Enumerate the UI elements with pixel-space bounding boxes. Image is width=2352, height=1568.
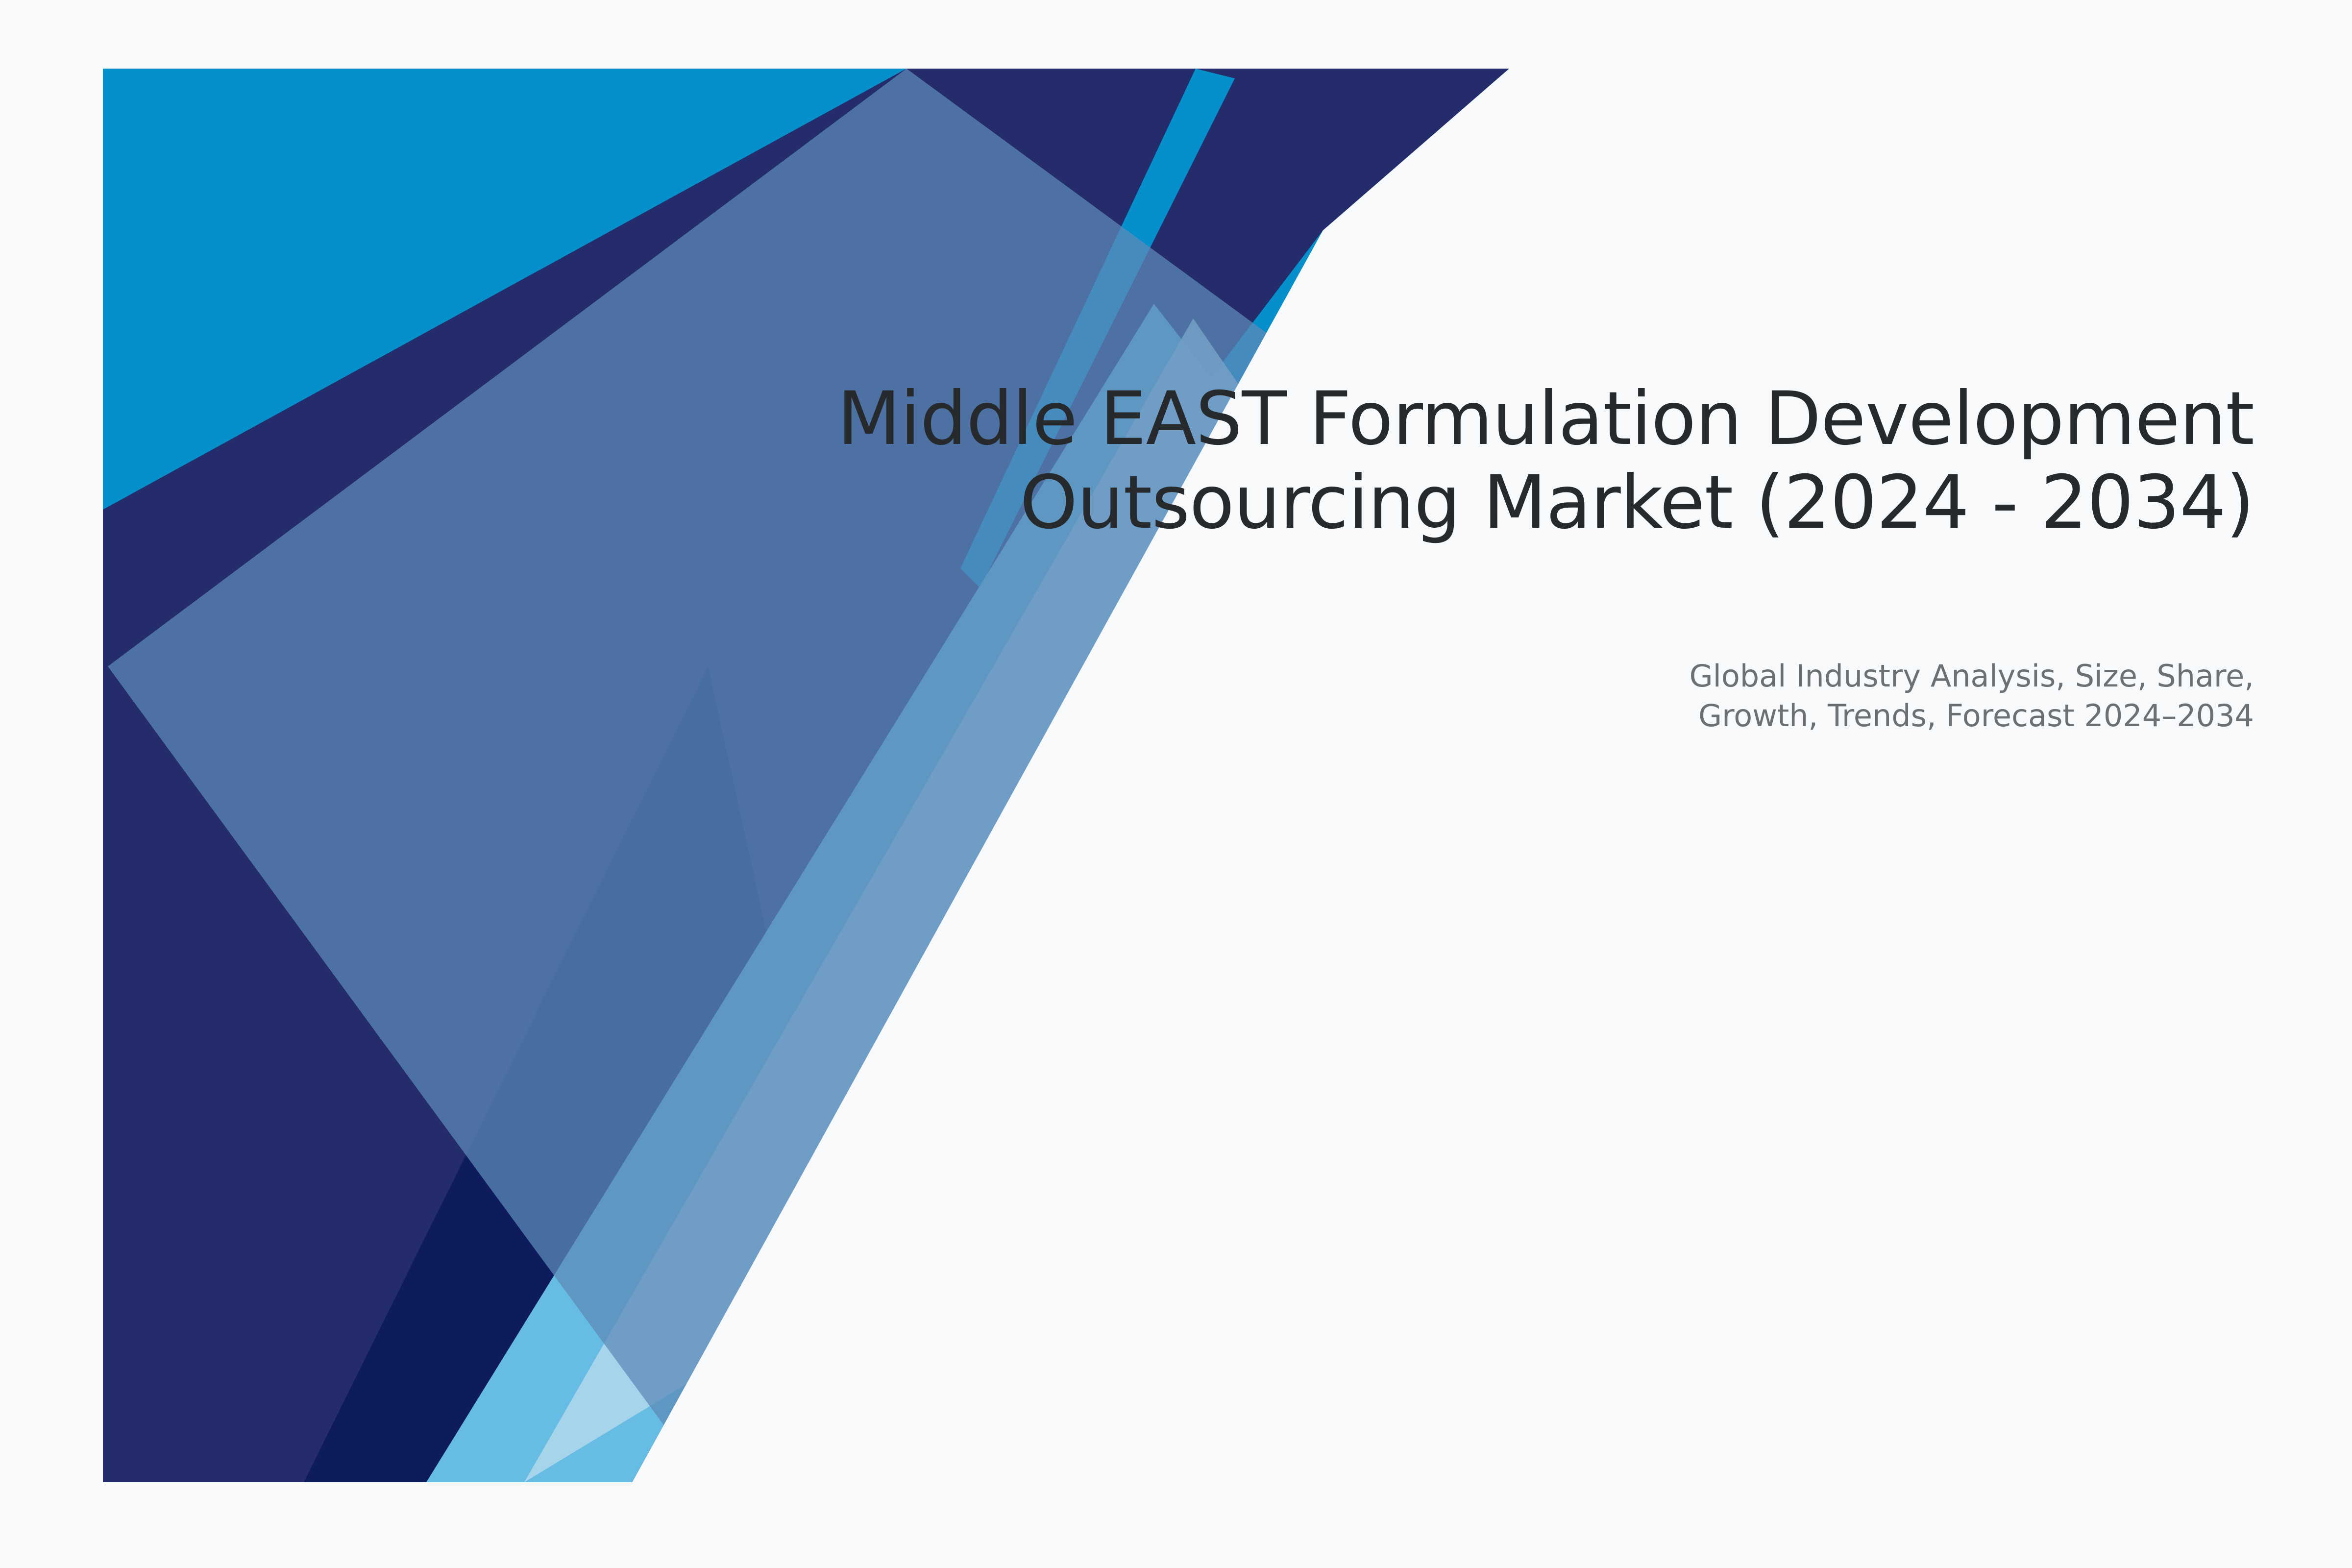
cover-text-layer: Middle EAST Formulation Development Outs…	[0, 0, 2352, 1568]
subtitle-block: Global Industry Analysis, Size, Share, G…	[1421, 657, 2254, 735]
title-block: Middle EAST Formulation Development Outs…	[710, 377, 2254, 545]
cover-page: Middle EAST Formulation Development Outs…	[0, 0, 2352, 1568]
page-title: Middle EAST Formulation Development Outs…	[710, 377, 2254, 545]
page-subtitle: Global Industry Analysis, Size, Share, G…	[1421, 657, 2254, 735]
